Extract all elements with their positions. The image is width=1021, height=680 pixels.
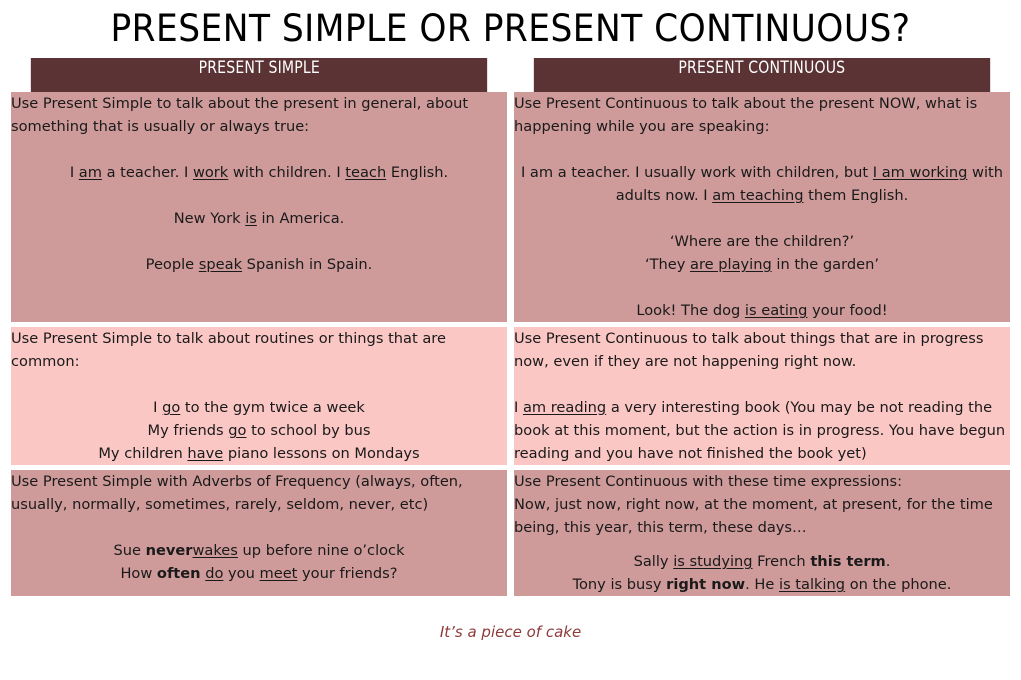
example-sentence: I am a teacher. I usually work with chil… <box>514 161 1010 207</box>
rule-description: Use Present Continuous to talk about the… <box>514 92 1010 138</box>
example-sentence: How often do you meet your friends? <box>11 562 507 585</box>
column-divider <box>507 92 514 322</box>
emphasised-term: right now <box>666 576 745 593</box>
highlighted-verb: wakes <box>193 542 238 559</box>
table-body: Use Present Simple to talk about the pre… <box>11 92 1010 596</box>
highlighted-verb: am reading <box>523 399 606 416</box>
table-cell-present-simple: Use Present Simple with Adverbs of Frequ… <box>11 470 507 596</box>
highlighted-verb: is studying <box>673 553 752 570</box>
example-sentence: Sue neverwakes up before nine o’clock <box>11 539 507 562</box>
vertical-spacer <box>514 138 1010 161</box>
table-row: Use Present Simple with Adverbs of Frequ… <box>11 470 1010 596</box>
table-cell-present-continuous: Use Present Continuous with these time e… <box>514 470 1010 596</box>
vertical-spacer <box>514 276 1010 299</box>
vertical-spacer <box>11 230 507 253</box>
table-header-row: PRESENT SIMPLE PRESENT CONTINUOUS <box>11 58 1010 92</box>
grammar-comparison-table: PRESENT SIMPLE PRESENT CONTINUOUS Use Pr… <box>11 58 1010 596</box>
example-sentence: Look! The dog is eating your food! <box>514 299 1010 322</box>
highlighted-verb: are playing <box>690 256 772 273</box>
column-header-present-continuous: PRESENT CONTINUOUS <box>534 58 990 92</box>
footer-note: It’s a piece of cake <box>0 623 1021 641</box>
highlighted-verb: go <box>228 422 246 439</box>
emphasised-term: often <box>157 565 201 582</box>
rule-description: Now, just now, right now, at the moment,… <box>514 493 1010 539</box>
example-sentence: I am a teacher. I work with children. I … <box>11 161 507 184</box>
column-header-present-simple: PRESENT SIMPLE <box>31 58 487 92</box>
example-sentence: Tony is busy right now. He is talking on… <box>514 573 1010 596</box>
example-sentence: I go to the gym twice a week <box>11 396 507 419</box>
vertical-spacer <box>514 539 1010 550</box>
example-sentence: People speak Spanish in Spain. <box>11 253 507 276</box>
highlighted-verb: is eating <box>745 302 808 319</box>
page-title: PRESENT SIMPLE OR PRESENT CONTINUOUS? <box>36 6 986 52</box>
highlighted-verb: do <box>205 565 223 582</box>
highlighted-verb: is <box>245 210 257 227</box>
vertical-spacer <box>514 207 1010 230</box>
table-cell-present-simple: Use Present Simple to talk about routine… <box>11 327 507 465</box>
table-cell-present-simple: Use Present Simple to talk about the pre… <box>11 92 507 322</box>
example-sentence: New York is in America. <box>11 207 507 230</box>
column-divider <box>507 327 514 465</box>
rule-description: Use Present Simple with Adverbs of Frequ… <box>11 470 507 516</box>
highlighted-verb: work <box>193 164 228 181</box>
highlighted-verb: is talking <box>779 576 845 593</box>
emphasised-term: never <box>146 542 193 559</box>
example-sentence: ‘Where are the children?’ <box>514 230 1010 253</box>
table-row: Use Present Simple to talk about the pre… <box>11 92 1010 322</box>
example-sentence: I am reading a very interesting book (Yo… <box>514 396 1010 465</box>
highlighted-verb: I am working <box>873 164 968 181</box>
rule-description: Use Present Continuous to talk about thi… <box>514 327 1010 373</box>
rule-description: Use Present Simple to talk about routine… <box>11 327 507 373</box>
column-header-present-continuous-label: PRESENT CONTINUOUS <box>679 58 846 78</box>
column-header-present-simple-label: PRESENT SIMPLE <box>198 58 319 78</box>
table-cell-present-continuous: Use Present Continuous to talk about thi… <box>514 327 1010 465</box>
highlighted-verb: am teaching <box>712 187 803 204</box>
vertical-spacer <box>11 138 507 161</box>
vertical-spacer <box>11 373 507 396</box>
highlighted-verb: have <box>187 445 223 462</box>
highlighted-verb: teach <box>345 164 386 181</box>
table-cell-present-continuous: Use Present Continuous to talk about the… <box>514 92 1010 322</box>
example-sentence: My children have piano lessons on Monday… <box>11 442 507 465</box>
column-divider <box>507 58 514 92</box>
vertical-spacer <box>11 184 507 207</box>
rule-description: Use Present Simple to talk about the pre… <box>11 92 507 138</box>
highlighted-verb: meet <box>260 565 298 582</box>
example-sentence: My friends go to school by bus <box>11 419 507 442</box>
highlighted-verb: am <box>79 164 102 181</box>
column-divider <box>507 470 514 596</box>
example-sentence: ‘They are playing in the garden’ <box>514 253 1010 276</box>
vertical-spacer <box>514 373 1010 396</box>
emphasised-term: this term <box>810 553 885 570</box>
example-sentence: Sally is studying French this term. <box>514 550 1010 573</box>
rule-description: Use Present Continuous with these time e… <box>514 470 1010 493</box>
highlighted-verb: speak <box>199 256 242 273</box>
table-row: Use Present Simple to talk about routine… <box>11 327 1010 465</box>
worksheet-page: PRESENT SIMPLE OR PRESENT CONTINUOUS? PR… <box>0 0 1021 680</box>
vertical-spacer <box>11 516 507 539</box>
highlighted-verb: go <box>162 399 180 416</box>
